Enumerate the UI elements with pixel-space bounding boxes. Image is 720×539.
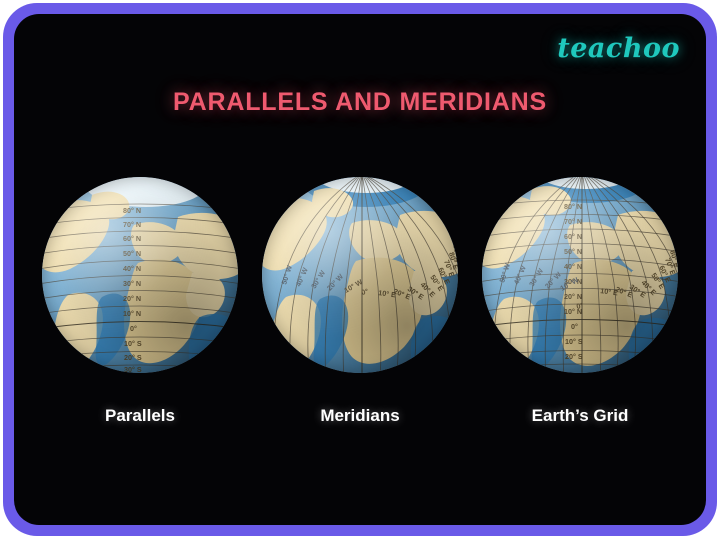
caption-earths-grid: Earth’s Grid [480,406,680,426]
slide-purple-frame: teachoo PARALLELS AND MERIDIANS [3,3,717,536]
globe-meridians: 50° W 40° W 30° W 20° W 10° W 0° 10° E 2… [262,177,458,373]
svg-text:70° N: 70° N [564,217,582,226]
svg-text:10° S: 10° S [565,337,583,346]
svg-text:20° N: 20° N [123,294,141,303]
caption-meridians: Meridians [260,406,460,426]
svg-text:20° N: 20° N [564,292,582,301]
svg-text:70° N: 70° N [123,220,141,229]
globe-parallels-map: 80° N 70° N 60° N 50° N 40° N 30° N 20° … [42,177,238,373]
svg-text:50° N: 50° N [123,249,141,258]
svg-text:20° S: 20° S [565,352,583,361]
globe-meridians-map: 50° W 40° W 30° W 20° W 10° W 0° 10° E 2… [262,177,458,373]
globe-cell-earths-grid: 80° N 70° N 60° N 50° N 40° N 30° N 20° … [480,177,680,373]
caption-row: Parallels Meridians Earth’s Grid [14,399,706,433]
svg-text:50° N: 50° N [564,247,582,256]
svg-text:40° N: 40° N [123,264,141,273]
svg-text:10° N: 10° N [123,309,141,318]
svg-text:30° N: 30° N [123,279,141,288]
svg-text:60° N: 60° N [123,234,141,243]
svg-text:10° S: 10° S [124,339,142,348]
svg-text:80° N: 80° N [123,206,141,215]
globe-earths-grid-map: 80° N 70° N 60° N 50° N 40° N 30° N 20° … [482,177,678,373]
caption-parallels: Parallels [40,406,240,426]
svg-text:20° S: 20° S [124,353,142,362]
svg-text:30° S: 30° S [124,365,142,373]
page-title: PARALLELS AND MERIDIANS [14,88,706,117]
svg-text:0°: 0° [130,324,137,333]
globe-earths-grid: 80° N 70° N 60° N 50° N 40° N 30° N 20° … [482,177,678,373]
teachoo-logo: teachoo [557,33,680,64]
slide-canvas: teachoo PARALLELS AND MERIDIANS [14,14,706,525]
globe-row: 80° N 70° N 60° N 50° N 40° N 30° N 20° … [14,177,706,387]
svg-text:40° N: 40° N [564,262,582,271]
globe-parallels: 80° N 70° N 60° N 50° N 40° N 30° N 20° … [42,177,238,373]
svg-text:0°: 0° [571,322,578,331]
globe-cell-parallels: 80° N 70° N 60° N 50° N 40° N 30° N 20° … [40,177,240,373]
globe-cell-meridians: 50° W 40° W 30° W 20° W 10° W 0° 10° E 2… [260,177,460,373]
svg-text:60° N: 60° N [564,232,582,241]
svg-text:80° N: 80° N [564,202,582,211]
